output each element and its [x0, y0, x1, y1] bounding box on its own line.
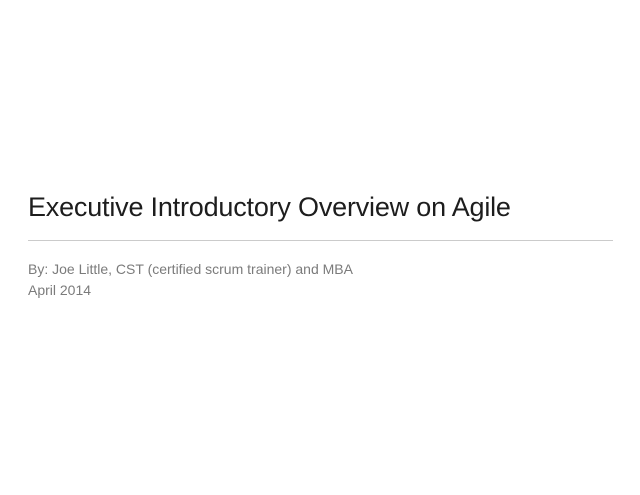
title-block: Executive Introductory Overview on Agile: [28, 190, 613, 224]
subtitle-block: By: Joe Little, CST (certified scrum tra…: [28, 259, 613, 301]
subtitle-author-line: By: Joe Little, CST (certified scrum tra…: [28, 259, 613, 280]
title-divider: [28, 240, 613, 241]
subtitle-date-line: April 2014: [28, 280, 613, 301]
page-title: Executive Introductory Overview on Agile: [28, 190, 613, 224]
title-slide: Executive Introductory Overview on Agile…: [0, 0, 640, 495]
